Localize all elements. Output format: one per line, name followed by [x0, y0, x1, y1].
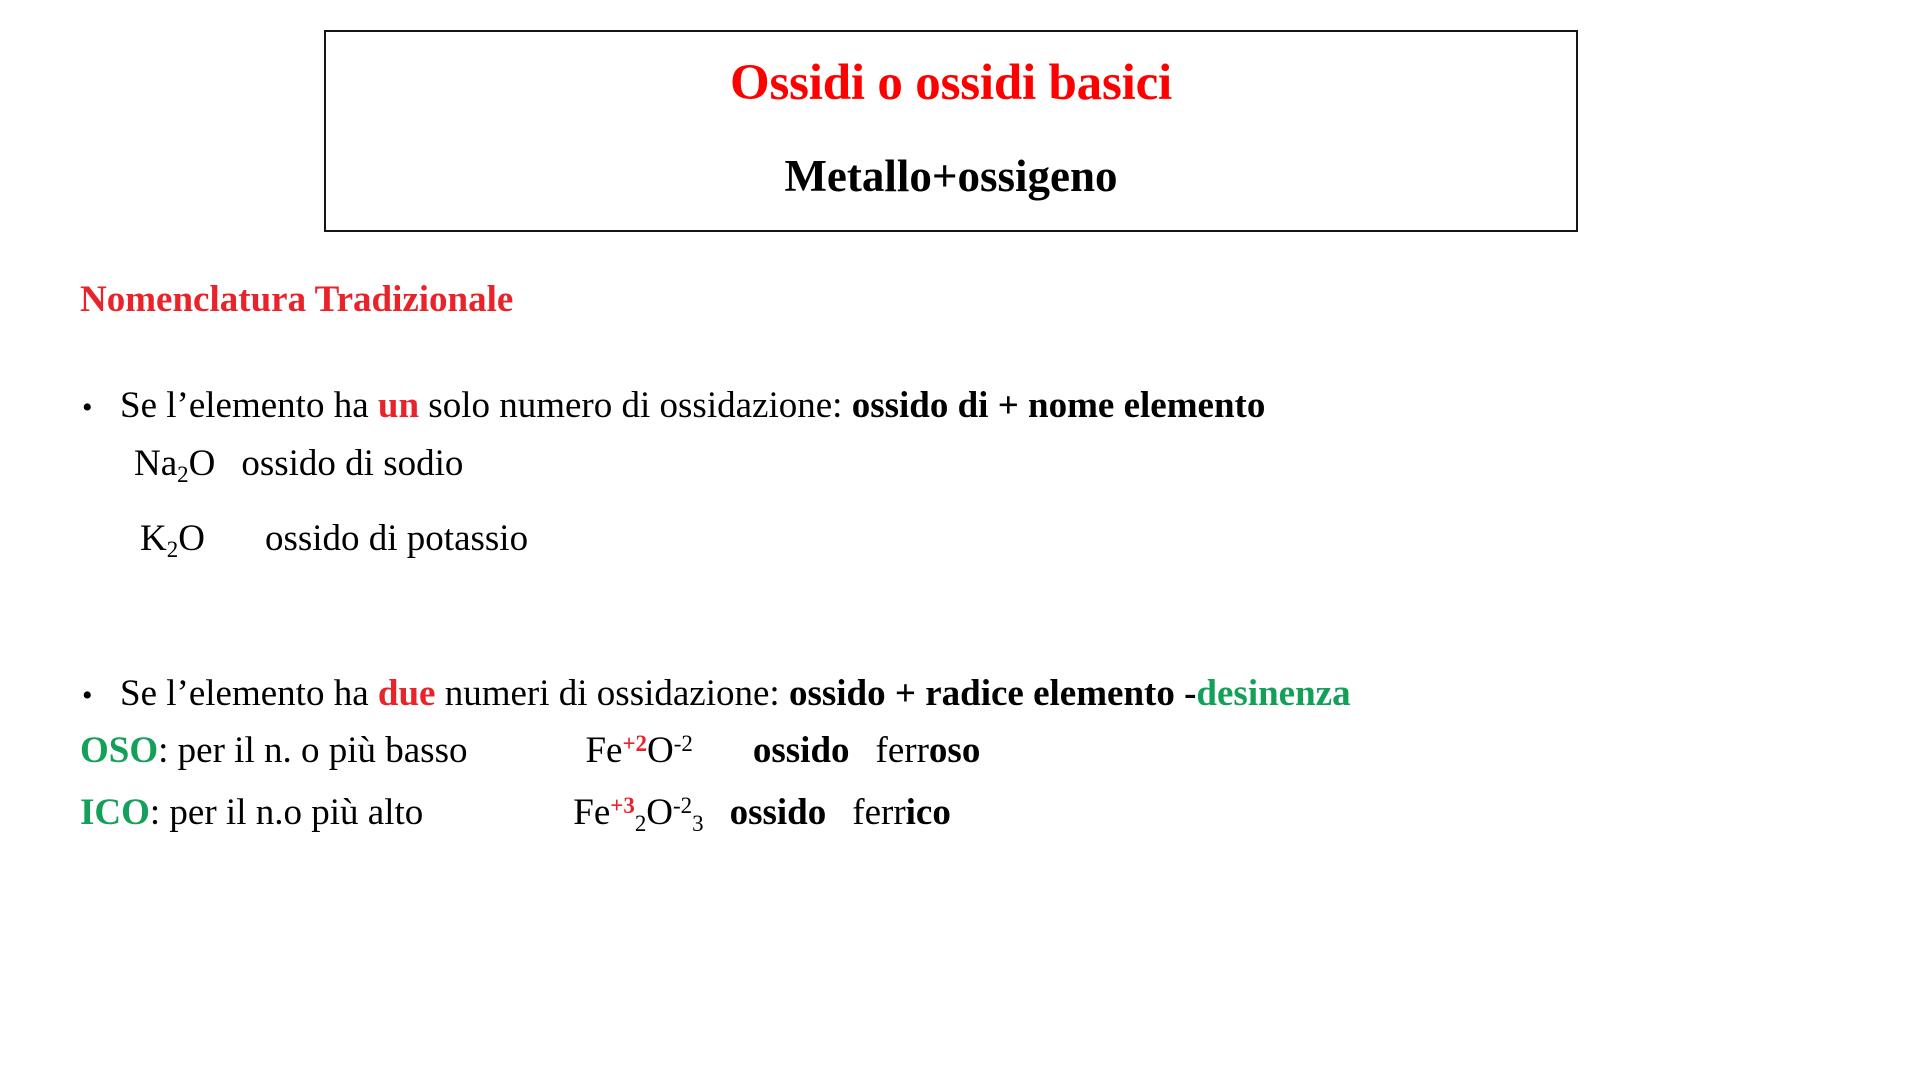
- bullet2-rule-suffix: desinenza: [1196, 673, 1350, 714]
- slide-subtitle: Metallo+ossigeno: [326, 150, 1576, 202]
- bullet1-emphasis: un: [378, 385, 419, 426]
- k2o-name: ossido di potassio: [265, 518, 528, 559]
- ico-formula-element-count: 2: [635, 811, 646, 836]
- rule-row-ico: ICO: per il n.o più altoFe+32O-23ossidof…: [80, 792, 951, 835]
- k2o-element: K: [140, 518, 167, 559]
- section-heading: Nomenclatura Tradizionale: [80, 278, 513, 321]
- oso-formula-oxygen-charge: -2: [674, 731, 693, 756]
- oso-formula-element-charge: +2: [622, 731, 647, 756]
- bullet-item-single-oxidation: •Se l’elemento ha un solo numero di ossi…: [82, 385, 1265, 428]
- bullet2-emphasis: due: [378, 673, 436, 714]
- oso-description: : per il n. o più basso: [158, 730, 467, 771]
- na2o-name: ossido di sodio: [241, 443, 463, 484]
- oso-suffix-label: OSO: [80, 730, 158, 771]
- k2o-subscript: 2: [167, 537, 178, 562]
- na2o-element: Na: [134, 443, 177, 484]
- ico-description: : per il n.o più alto: [150, 792, 423, 833]
- ico-formula-oxygen: O: [646, 792, 673, 833]
- na2o-oxygen: O: [189, 443, 216, 484]
- ico-suffix-label: ICO: [80, 792, 150, 833]
- bullet2-rule: ossido + radice elemento -: [789, 673, 1196, 714]
- rule-row-oso: OSO: per il n. o più bassoFe+2O-2ossidof…: [80, 730, 980, 773]
- bullet2-text-before: Se l’elemento ha: [120, 673, 378, 714]
- title-box: Ossidi o ossidi basici Metallo+ossigeno: [324, 30, 1578, 232]
- bullet1-rule: ossido di + nome elemento: [852, 385, 1266, 426]
- bullet1-text-before: Se l’elemento ha: [120, 385, 378, 426]
- oso-formula-oxygen: O: [647, 730, 674, 771]
- bullet-dot-icon: •: [82, 679, 120, 714]
- example-sodium-oxide: Na2Oossido di sodio: [134, 443, 463, 486]
- ico-name-root: ferr: [852, 792, 905, 833]
- ico-formula-oxygen-count: 3: [692, 811, 703, 836]
- ico-name-prefix: ossido: [730, 792, 827, 833]
- ico-formula-element: Fe: [573, 792, 610, 833]
- ico-name-suffix: ico: [906, 792, 951, 833]
- k2o-oxygen: O: [178, 518, 205, 559]
- bullet1-text-after: solo numero di ossidazione:: [419, 385, 852, 426]
- oso-name-suffix: oso: [929, 730, 980, 771]
- bullet-dot-icon: •: [82, 391, 120, 426]
- example-potassium-oxide: K2Oossido di potassio: [140, 518, 528, 561]
- na2o-subscript: 2: [177, 462, 188, 487]
- bullet2-text-after: numeri di ossidazione:: [435, 673, 789, 714]
- oso-name-prefix: ossido: [753, 730, 850, 771]
- ico-formula-oxygen-charge: -2: [673, 793, 692, 818]
- oso-name-root: ferr: [876, 730, 929, 771]
- slide-title: Ossidi o ossidi basici: [326, 54, 1576, 112]
- bullet-item-double-oxidation: •Se l’elemento ha due numeri di ossidazi…: [82, 673, 1351, 716]
- oso-formula-element: Fe: [585, 730, 622, 771]
- ico-formula-element-charge: +3: [610, 793, 635, 818]
